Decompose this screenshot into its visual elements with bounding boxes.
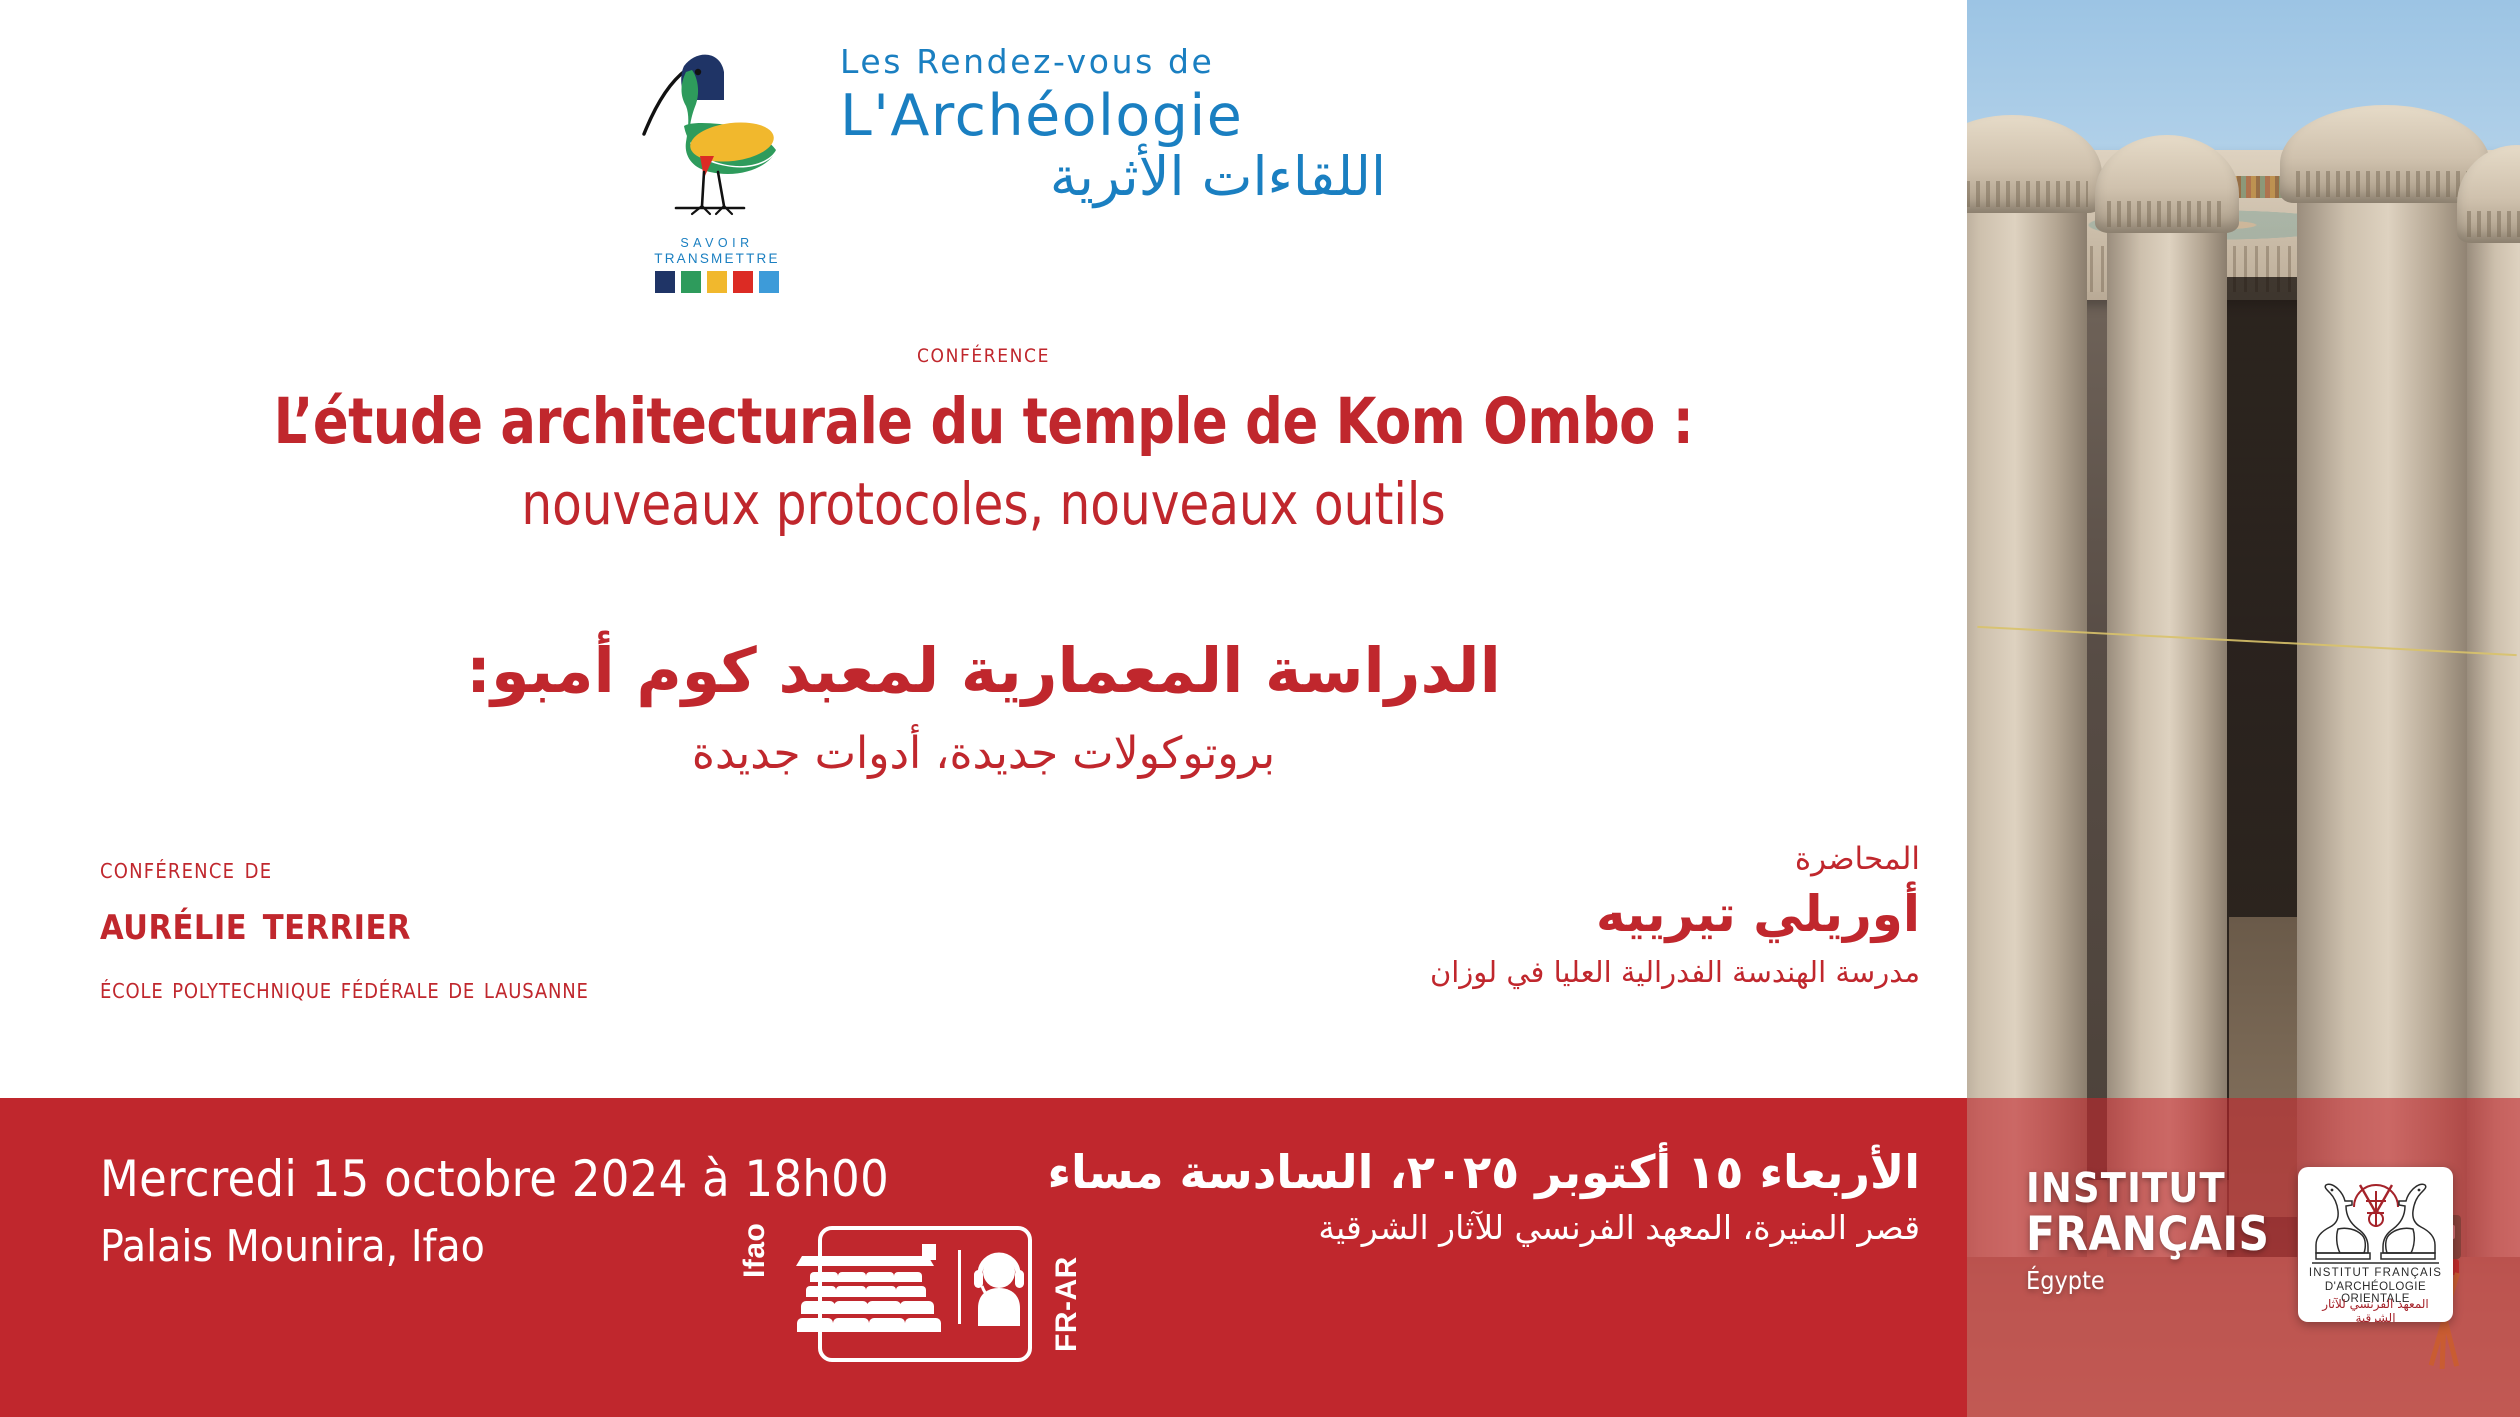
title-french-line-1: L’étude architecturale du temple de Kom … <box>69 380 1898 464</box>
institut-francais-line-1: INSTITUT <box>2026 1168 2270 1209</box>
title-arabic-line-2: بروتوكولات جديدة، أدوات جديدة <box>0 717 1967 791</box>
conference-poster: SAVOIR TRANSMETTRE Les Rendez-vous de L'… <box>0 0 2520 1417</box>
color-swatch-amber <box>707 271 727 293</box>
title-french-line-2: nouveaux protocoles, nouveaux outils <box>69 464 1898 544</box>
brand-line-2: L'Archéologie <box>840 83 1400 149</box>
badge-divider <box>958 1250 961 1324</box>
institut-francais-line-2: FRANÇAIS <box>2026 1211 2270 1258</box>
event-place-arabic: قصر المنيرة، المعهد الفرنسي للآثار الشرق… <box>1047 1202 1920 1254</box>
event-details-arabic: الأربعاء ١٥ أكتوبر ٢٠٢٥، السادسة مساء قص… <box>1047 1142 1920 1254</box>
headset-interpreter-icon <box>972 1246 1026 1334</box>
ifao-caption-line-1: INSTITUT FRANÇAIS <box>2304 1267 2447 1279</box>
title-arabic-line-1: الدراسة المعمارية لمعبد كوم أمبو: <box>0 625 1967 717</box>
conference-kicker: Conférence <box>0 338 1967 369</box>
color-swatch-red <box>733 271 753 293</box>
savoir-transmettre-tagline: SAVOIR TRANSMETTRE <box>644 236 790 293</box>
temple-column <box>2467 237 2520 1257</box>
color-swatch-row <box>644 271 790 293</box>
ibis-bird-icon <box>640 38 780 228</box>
speaker-kicker-french: Conférence de <box>100 848 589 888</box>
brand-wordmark: Les Rendez-vous de L'Archéologie اللقاءا… <box>840 42 1400 208</box>
speaker-name-arabic: أوريلي تيرييه <box>1430 880 1920 948</box>
event-date-arabic: الأربعاء ١٥ أكتوبر ٢٠٢٥، السادسة مساء <box>1047 1142 1920 1202</box>
ifao-caption-arabic: المعهد الفرنسي للآثار الشرقية <box>2304 1297 2447 1322</box>
ifao-two-lions-monogram-icon <box>2308 1173 2443 1269</box>
institut-francais-line-3: Égypte <box>2026 1268 2270 1293</box>
title-french: L’étude architecturale du temple de Kom … <box>0 380 1967 544</box>
language-badge: Ifao FR-AR <box>782 1222 1082 1367</box>
brand-line-arabic: اللقاءات الأثرية <box>840 145 1400 208</box>
speaker-affiliation-french: École Polytechnique Fédérale de Lausanne <box>100 968 589 1010</box>
tagline-line-1: SAVOIR <box>644 236 790 251</box>
temple-column <box>2297 197 2472 1257</box>
speaker-kicker-arabic: المحاضرة <box>1430 838 1920 880</box>
color-swatch-blue <box>759 271 779 293</box>
auditorium-seats-icon <box>794 1240 946 1340</box>
badge-label-ifao: Ifao <box>738 1223 772 1278</box>
ifao-logo-card: INSTITUT FRANÇAIS D'ARCHÉOLOGIE ORIENTAL… <box>2298 1167 2453 1322</box>
rdv-archeologie-logo: SAVOIR TRANSMETTRE Les Rendez-vous de L'… <box>640 38 1400 188</box>
tagline-line-2: TRANSMETTRE <box>644 251 790 266</box>
speaker-affiliation-arabic: مدرسة الهندسة الفدرالية العليا في لوزان <box>1430 950 1920 994</box>
speaker-block-arabic: المحاضرة أوريلي تيرييه مدرسة الهندسة الف… <box>1430 838 1920 994</box>
title-arabic: الدراسة المعمارية لمعبد كوم أمبو: بروتوك… <box>0 625 1967 791</box>
color-swatch-green <box>681 271 701 293</box>
brand-line-1: Les Rendez-vous de <box>840 42 1400 81</box>
institut-francais-logo: INSTITUT FRANÇAIS Égypte <box>2026 1168 2270 1293</box>
speaker-name-french: Aurélie Terrier <box>100 892 589 954</box>
color-swatch-navy <box>655 271 675 293</box>
badge-label-fr-ar: FR-AR <box>1050 1256 1084 1352</box>
event-date-french: Mercredi 15 octobre 2024 à 18h00 <box>100 1148 889 1210</box>
temple-column <box>2107 227 2227 1257</box>
temple-column <box>1967 207 2087 1257</box>
speaker-block-french: Conférence de Aurélie Terrier École Poly… <box>100 848 589 1010</box>
